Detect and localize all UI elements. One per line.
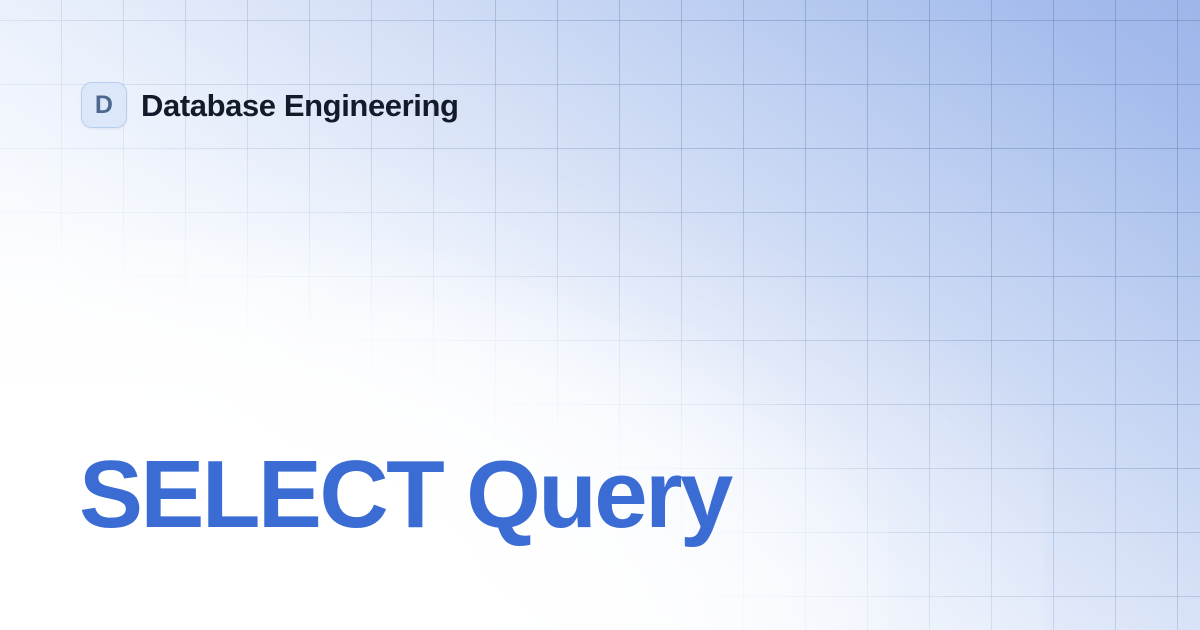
badge-letter: D xyxy=(95,93,113,118)
slide-canvas: D Database Engineering SELECT Query xyxy=(0,0,1200,630)
page-title: SELECT Query xyxy=(79,447,731,543)
brand-title: Database Engineering xyxy=(141,90,459,121)
brand-row: D Database Engineering xyxy=(81,82,459,128)
letter-d-badge-icon: D xyxy=(81,82,127,128)
